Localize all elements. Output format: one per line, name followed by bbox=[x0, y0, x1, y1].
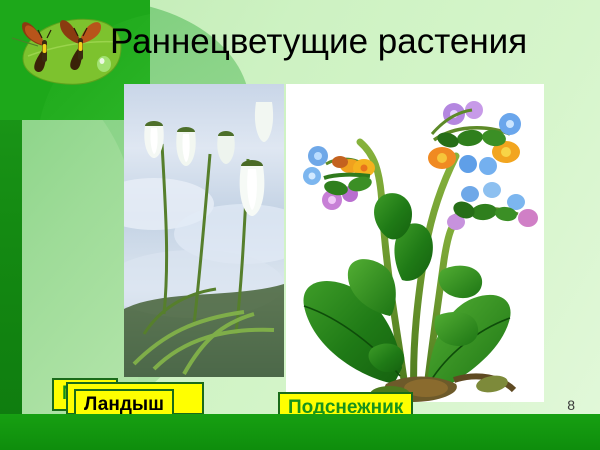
bottom-bar bbox=[0, 414, 600, 450]
snowdrops-photo bbox=[124, 84, 284, 377]
page-number: 8 bbox=[567, 397, 575, 413]
slide: Раннецветущие растения bbox=[0, 0, 600, 450]
page-title: Раннецветущие растения bbox=[110, 20, 580, 64]
butterflies-on-leaf-icon bbox=[8, 12, 126, 90]
lungwort-illustration bbox=[286, 84, 544, 402]
